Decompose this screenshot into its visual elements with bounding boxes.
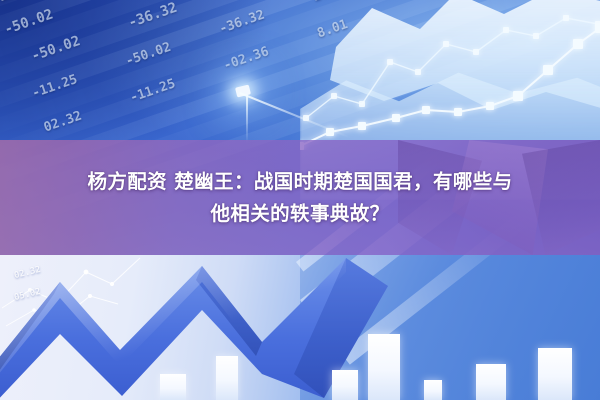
ticker-value: -50.02 (124, 40, 173, 69)
ticker-value: -50.02 (2, 6, 55, 38)
chart-node-marker (331, 93, 337, 99)
bar-column (538, 348, 572, 400)
chart-node-marker (358, 122, 366, 130)
chart-node-marker (513, 91, 523, 101)
bar-column (160, 374, 186, 400)
chart-node-marker (533, 33, 539, 39)
ticker-value: -02.36 (222, 44, 271, 73)
chart-node-marker (563, 15, 569, 21)
chart-node-marker (573, 39, 583, 49)
bar-column (368, 334, 400, 400)
ticker-value: -36.32 (126, 0, 179, 31)
financial-news-banner: -50.02-02.36-11.25+5.02-02.3621.362.26-0… (0, 0, 600, 400)
chart-node-marker (443, 41, 449, 47)
bar-column (476, 364, 506, 400)
chart-node-marker (387, 59, 393, 65)
ticker-value: 02.32 (42, 109, 84, 136)
bar-column (424, 380, 442, 400)
bar-column (332, 370, 358, 400)
chart-node-marker (454, 108, 462, 116)
chart-node-marker (473, 49, 479, 55)
chart-node-marker (543, 65, 553, 75)
title-line-2: 他相关的轶事典故？ (210, 201, 389, 227)
ticker-value: -36.32 (217, 8, 266, 37)
ticker-value: -11.25 (0, 0, 39, 8)
ticker-value: -50.02 (29, 33, 82, 65)
bar-column (216, 356, 238, 400)
ticker-value: -11.25 (128, 76, 177, 105)
chart-node-marker (415, 69, 421, 75)
banner-title: 杨方配资 楚幽王：战国时期楚国国君，有哪些与 他相关的轶事典故？ (0, 140, 600, 255)
ticker-value: -11.25 (30, 72, 79, 101)
chart-node-marker (486, 102, 494, 110)
chart-node-marker (359, 101, 365, 107)
chart-node-marker (503, 27, 509, 33)
chart-node-marker (422, 106, 430, 114)
ticker-value: -02.36 (99, 0, 152, 5)
title-line-1: 杨方配资 楚幽王：战国时期楚国国君，有哪些与 (87, 169, 512, 195)
chart-node-marker (595, 23, 600, 33)
glowing-line-chart (300, 0, 600, 150)
chart-node-marker (392, 114, 400, 122)
light-post (246, 95, 248, 143)
